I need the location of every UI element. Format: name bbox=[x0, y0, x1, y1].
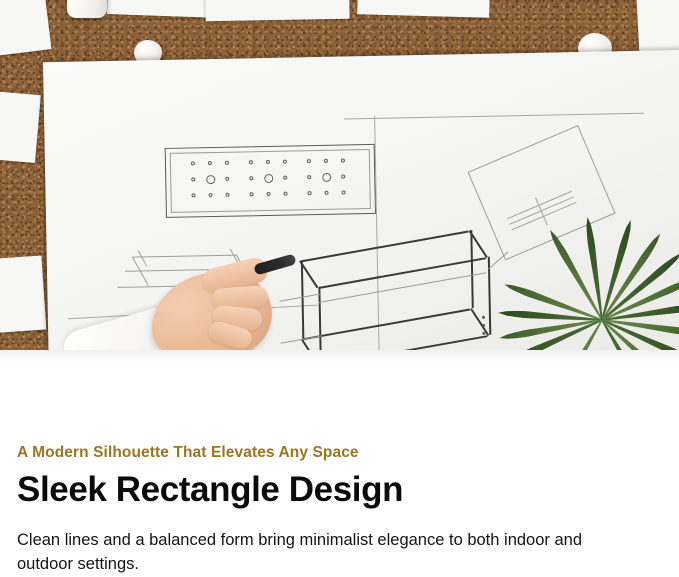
hand-holding-pencil bbox=[150, 265, 360, 362]
text-block: A Modern Silhouette That Elevates Any Sp… bbox=[0, 362, 679, 577]
eyebrow-text: A Modern Silhouette That Elevates Any Sp… bbox=[17, 444, 662, 462]
pinned-paper bbox=[0, 89, 41, 163]
sketch-perforated-panel bbox=[165, 144, 376, 218]
paper-cup bbox=[67, 0, 107, 18]
pinned-paper bbox=[204, 0, 349, 21]
pinned-paper bbox=[0, 0, 51, 59]
potted-plant bbox=[540, 188, 679, 362]
hero-image bbox=[0, 0, 679, 362]
image-bottom-edge bbox=[0, 350, 679, 362]
pinned-paper bbox=[0, 256, 46, 335]
page-title: Sleek Rectangle Design bbox=[17, 470, 662, 509]
body-text: Clean lines and a balanced form bring mi… bbox=[17, 529, 617, 577]
